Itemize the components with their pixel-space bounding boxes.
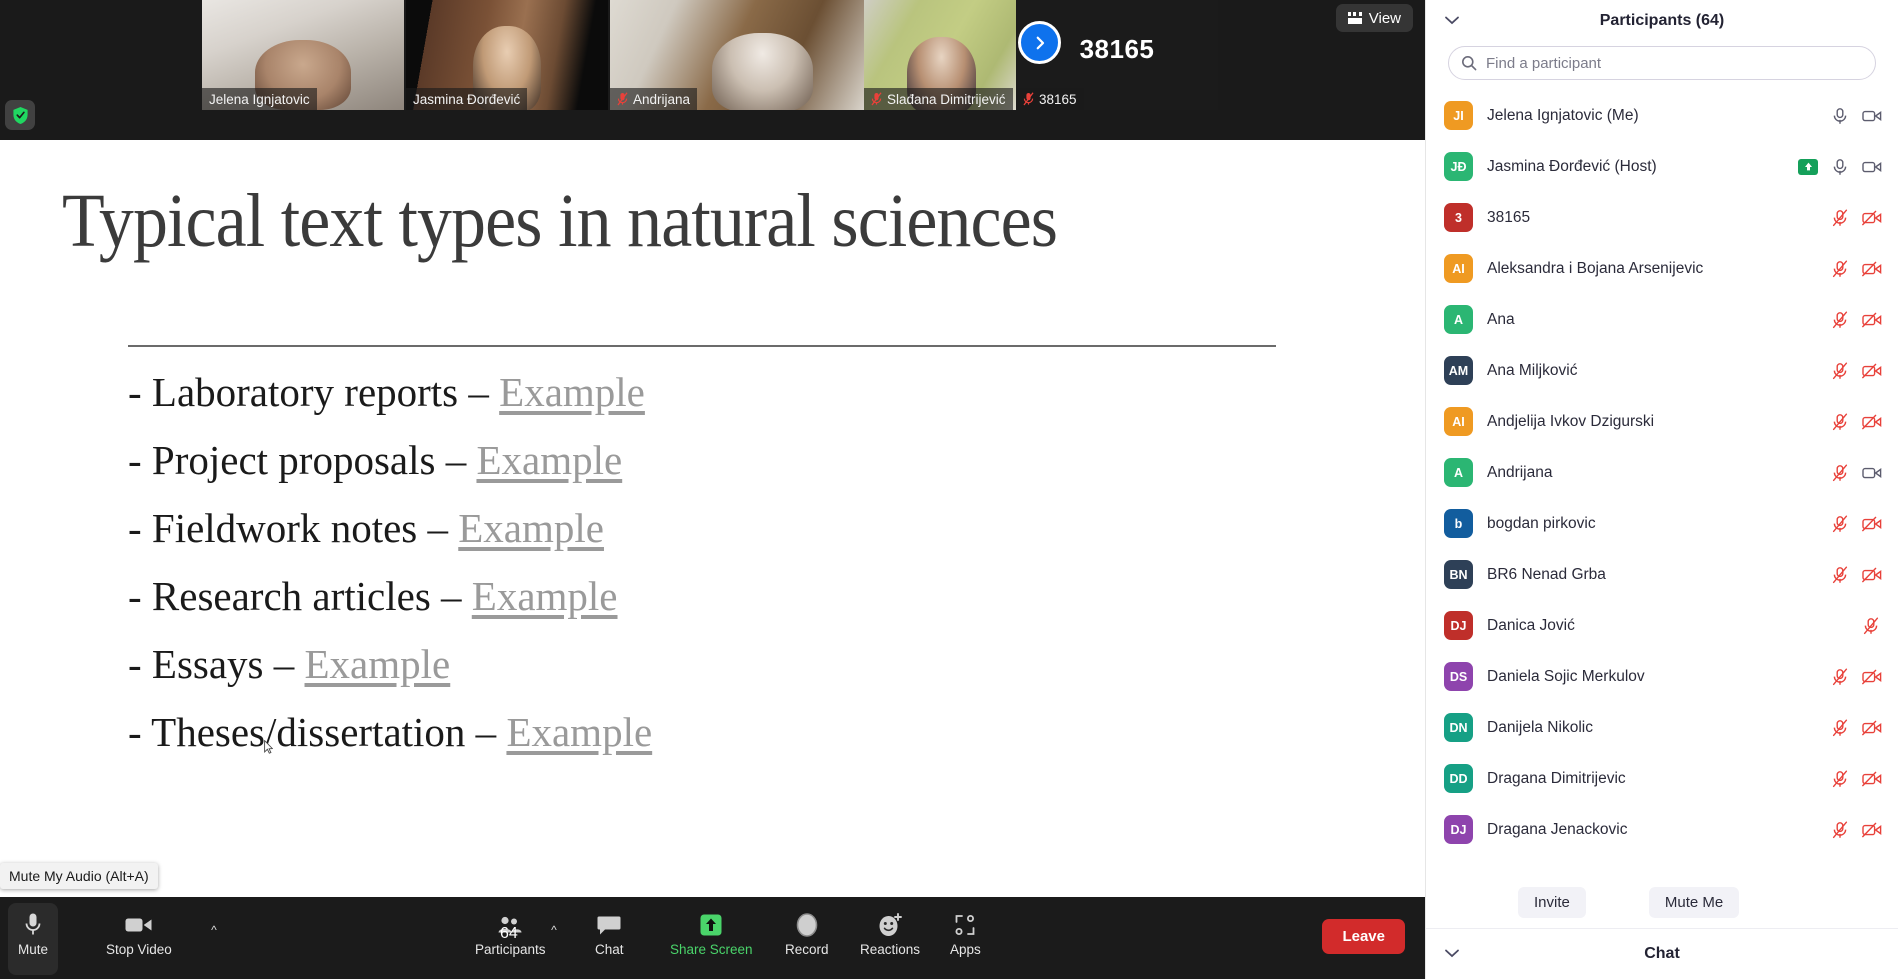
avatar: BN — [1444, 560, 1473, 589]
video-tile-name: Jasmina Đorđević — [413, 92, 520, 107]
participant-name: 38165 — [1487, 209, 1817, 227]
bullet-example-link[interactable]: Example — [305, 641, 451, 687]
participant-status-icons — [1831, 770, 1880, 788]
share-screen-button-label: Share Screen — [670, 942, 753, 957]
participant-row[interactable]: AIAndjelija Ivkov Dzigurski — [1444, 396, 1880, 447]
mic-off-icon[interactable] — [1862, 617, 1880, 635]
bullet-example-link[interactable]: Example — [476, 437, 622, 483]
avatar: AI — [1444, 254, 1473, 283]
video-tile[interactable]: Jelena Ignjatovic — [202, 0, 404, 110]
bullet-text: - Theses/dissertation – — [128, 709, 506, 755]
slide-bullet-item: - Essays – Example — [128, 644, 1308, 685]
participant-name: Daniela Sojic Merkulov — [1487, 668, 1817, 686]
participant-status-icons — [1831, 566, 1880, 584]
avatar: JĐ — [1444, 152, 1473, 181]
bullet-text: - Essays – — [128, 641, 305, 687]
avatar: DJ — [1444, 815, 1473, 844]
mic-off-icon — [617, 92, 628, 106]
participant-search-input[interactable] — [1486, 55, 1863, 72]
bullet-example-link[interactable]: Example — [472, 573, 618, 619]
camera-on-icon[interactable] — [1862, 107, 1880, 125]
participant-status-icons — [1831, 719, 1880, 737]
camera-off-icon[interactable] — [1862, 668, 1880, 686]
participant-name: Ana Miljković — [1487, 362, 1817, 380]
participant-name: Andrijana — [1487, 464, 1817, 482]
encryption-shield-icon[interactable] — [5, 100, 35, 130]
participant-status-icons — [1831, 209, 1880, 227]
bullet-example-link[interactable]: Example — [506, 709, 652, 755]
chat-collapse-chevron-icon[interactable] — [1444, 945, 1460, 963]
chat-panel-header[interactable]: Chat — [1426, 929, 1898, 979]
avatar: JI — [1444, 101, 1473, 130]
camera-on-icon[interactable] — [1862, 158, 1880, 176]
camera-off-icon[interactable] — [1862, 821, 1880, 839]
next-page-arrow-button[interactable] — [1018, 21, 1061, 64]
participant-status-icons — [1862, 617, 1880, 635]
avatar: DN — [1444, 713, 1473, 742]
slide-bullet-item: - Fieldwork notes – Example — [128, 508, 1308, 549]
participants-button-label: Participants — [475, 942, 546, 957]
participant-name: Jelena Ignjatovic (Me) — [1487, 107, 1817, 125]
chevron-right-icon — [1031, 34, 1049, 52]
camera-off-icon[interactable] — [1862, 515, 1880, 533]
camera-on-icon[interactable] — [1862, 464, 1880, 482]
mute-button[interactable]: Mute — [8, 903, 58, 975]
shared-slide: Typical text types in natural sciences -… — [0, 140, 1425, 897]
video-tile-namebar: Andrijana — [610, 88, 697, 110]
slide-bullet-item: - Theses/dissertation – Example — [128, 712, 1308, 753]
avatar: DJ — [1444, 611, 1473, 640]
participant-row[interactable]: AAndrijana — [1444, 447, 1880, 498]
slide-bullet-item: - Laboratory reports – Example — [128, 372, 1308, 413]
participant-row[interactable]: DJDanica Jović — [1444, 600, 1880, 651]
microphone-icon — [23, 910, 43, 940]
participant-status-icons — [1831, 260, 1880, 278]
mic-off-icon[interactable] — [1831, 209, 1849, 227]
apps-button-label: Apps — [950, 942, 981, 957]
avatar: A — [1444, 458, 1473, 487]
participants-panel-actions: Invite Mute Me — [1426, 877, 1898, 929]
video-tile-name: Andrijana — [633, 92, 690, 107]
leave-button[interactable]: Leave — [1322, 919, 1405, 954]
participant-search-box[interactable] — [1448, 46, 1876, 80]
participant-status-icons — [1831, 311, 1880, 329]
participant-name: Dragana Jenackovic — [1487, 821, 1817, 839]
side-panel: Participants (64) JIJelena Ignjatovic (M… — [1425, 0, 1898, 979]
record-button-label: Record — [785, 942, 829, 957]
record-circle-icon — [795, 910, 819, 940]
mic-off-icon[interactable] — [1831, 668, 1849, 686]
mic-off-icon — [617, 92, 628, 106]
bullet-text: - Research articles – — [128, 573, 472, 619]
mic-off-icon[interactable] — [1831, 464, 1849, 482]
participant-name: bogdan pirkovic — [1487, 515, 1817, 533]
slide-bullet-list: - Laboratory reports – Example- Project … — [128, 372, 1308, 780]
title-divider-rule — [128, 345, 1276, 347]
participants-panel-header: Participants (64) — [1426, 0, 1898, 42]
video-tile-namebar: Jelena Ignjatovic — [202, 88, 317, 110]
participants-count: 64 — [500, 925, 518, 943]
chat-button-label: Chat — [595, 942, 624, 957]
mute-button-label: Mute — [18, 942, 48, 957]
avatar: b — [1444, 509, 1473, 538]
camera-off-icon[interactable] — [1862, 566, 1880, 584]
zoom-meeting-window: 38165 38165 Slađana Dimitrijević Andrija… — [0, 0, 1898, 979]
participant-name: Danica Jović — [1487, 617, 1848, 635]
reactions-button[interactable]: Reactions — [850, 903, 930, 975]
bullet-text: - Fieldwork notes – — [128, 505, 458, 551]
participants-list[interactable]: JIJelena Ignjatovic (Me) JĐJasmina Đorđe… — [1426, 90, 1898, 877]
mic-off-icon[interactable] — [1831, 413, 1849, 431]
record-button[interactable]: Record — [775, 903, 839, 975]
apps-button[interactable]: Apps — [940, 903, 991, 975]
mute-me-button[interactable]: Mute Me — [1649, 887, 1739, 918]
participants-options-caret-icon[interactable]: ^ — [546, 923, 562, 937]
video-tile-name: 38165 — [1039, 92, 1077, 107]
grid-view-icon — [1348, 12, 1362, 24]
mic-off-icon[interactable] — [1831, 719, 1849, 737]
camera-off-icon[interactable] — [1862, 413, 1880, 431]
participant-row[interactable]: AAna — [1444, 294, 1880, 345]
camera-icon — [125, 910, 153, 940]
camera-off-icon[interactable] — [1862, 311, 1880, 329]
video-tile[interactable]: Slađana Dimitrijević — [864, 0, 1016, 110]
host-share-badge-icon — [1798, 159, 1818, 175]
video-tile-namebar: Slađana Dimitrijević — [864, 88, 1013, 110]
participant-status-icons — [1831, 413, 1880, 431]
mouse-cursor-icon — [264, 740, 273, 754]
avatar: AM — [1444, 356, 1473, 385]
participant-row[interactable]: DDDragana Dimitrijevic — [1444, 753, 1880, 804]
camera-off-icon[interactable] — [1862, 362, 1880, 380]
bullet-text: - Project proposals – — [128, 437, 476, 483]
search-icon — [1461, 55, 1477, 71]
share-arrow-icon — [699, 910, 723, 940]
participant-status-icons — [1831, 668, 1880, 686]
mic-off-icon[interactable] — [1831, 311, 1849, 329]
participant-row[interactable]: JĐJasmina Đorđević (Host) — [1444, 141, 1880, 192]
mic-off-icon[interactable] — [1831, 362, 1849, 380]
participant-row[interactable]: DNDanijela Nikolic — [1444, 702, 1880, 753]
apps-bracket-icon — [953, 910, 977, 940]
participant-name: Jasmina Đorđević (Host) — [1487, 158, 1784, 176]
participant-row[interactable]: JIJelena Ignjatovic (Me) — [1444, 90, 1880, 141]
participant-status-icons — [1831, 821, 1880, 839]
camera-off-icon[interactable] — [1862, 209, 1880, 227]
camera-off-icon[interactable] — [1862, 770, 1880, 788]
bullet-text: - Laboratory reports – — [128, 369, 499, 415]
participant-status-icons — [1798, 158, 1880, 176]
mic-off-icon — [1023, 92, 1034, 106]
view-layout-button[interactable]: View — [1336, 4, 1413, 32]
participant-search-wrapper — [1426, 42, 1898, 90]
chat-panel-title: Chat — [1644, 945, 1680, 963]
video-tile-name: Slađana Dimitrijević — [887, 92, 1006, 107]
reactions-button-label: Reactions — [860, 942, 920, 957]
avatar: DS — [1444, 662, 1473, 691]
mic-off-icon[interactable] — [1831, 770, 1849, 788]
avatar: A — [1444, 305, 1473, 334]
participant-name: Danijela Nikolic — [1487, 719, 1817, 737]
video-tile-name: Jelena Ignjatovic — [209, 92, 310, 107]
participant-status-icons — [1831, 464, 1880, 482]
mute-tooltip: Mute My Audio (Alt+A) — [0, 863, 158, 889]
video-tile[interactable]: Jasmina Đorđević — [406, 0, 608, 110]
stop-video-button-label: Stop Video — [106, 942, 172, 957]
video-thumbnail-strip: 38165 38165 Slađana Dimitrijević Andrija… — [0, 0, 1425, 140]
participant-row[interactable]: AIAleksandra i Bojana Arsenijevic — [1444, 243, 1880, 294]
participant-row[interactable]: DSDaniela Sojic Merkulov — [1444, 651, 1880, 702]
participant-row[interactable]: BNBR6 Nenad Grba — [1444, 549, 1880, 600]
video-options-caret-icon[interactable]: ^ — [206, 923, 222, 937]
participant-row[interactable]: DJDragana Jenackovic — [1444, 804, 1880, 855]
mic-off-icon[interactable] — [1831, 515, 1849, 533]
mic-off-icon[interactable] — [1831, 821, 1849, 839]
participant-name: Aleksandra i Bojana Arsenijevic — [1487, 260, 1817, 278]
participant-name: Dragana Dimitrijevic — [1487, 770, 1817, 788]
video-tile-namebar: 38165 — [1016, 88, 1084, 110]
slide-title: Typical text types in natural sciences — [62, 182, 1249, 262]
mic-off-icon — [1023, 92, 1034, 106]
mic-off-icon[interactable] — [1831, 260, 1849, 278]
participants-collapse-chevron-icon[interactable] — [1444, 12, 1460, 30]
stop-video-button[interactable]: Stop Video — [96, 903, 182, 975]
smiley-plus-icon — [877, 910, 903, 940]
invite-button[interactable]: Invite — [1518, 887, 1586, 918]
participant-row[interactable]: 338165 — [1444, 192, 1880, 243]
view-button-label: View — [1369, 10, 1401, 27]
participant-row[interactable]: AMAna Miljković — [1444, 345, 1880, 396]
video-tile[interactable]: Andrijana — [610, 0, 864, 110]
participant-name: BR6 Nenad Grba — [1487, 566, 1817, 584]
slide-bullet-item: - Project proposals – Example — [128, 440, 1308, 481]
participants-panel-title: Participants (64) — [1600, 12, 1724, 30]
participant-name: Ana — [1487, 311, 1817, 329]
chat-button[interactable]: Chat — [585, 903, 634, 975]
camera-off-icon[interactable] — [1862, 260, 1880, 278]
share-screen-button[interactable]: Share Screen — [660, 903, 763, 975]
avatar: DD — [1444, 764, 1473, 793]
participant-status-icons — [1831, 362, 1880, 380]
mic-on-icon[interactable] — [1831, 107, 1849, 125]
camera-off-icon[interactable] — [1862, 719, 1880, 737]
slide-bullet-item: - Research articles – Example — [128, 576, 1308, 617]
mic-off-icon[interactable] — [1831, 566, 1849, 584]
video-tile-namebar: Jasmina Đorđević — [406, 88, 527, 110]
participant-status-icons — [1831, 515, 1880, 533]
mic-off-icon — [871, 92, 882, 106]
meeting-toolbar: Mute Stop Video ^ — [0, 897, 1425, 979]
bullet-example-link[interactable]: Example — [458, 505, 604, 551]
mic-off-icon — [871, 92, 882, 106]
speech-bubble-icon — [597, 910, 621, 940]
bullet-example-link[interactable]: Example — [499, 369, 645, 415]
avatar: AI — [1444, 407, 1473, 436]
avatar: 3 — [1444, 203, 1473, 232]
green-shield-check-icon — [12, 106, 29, 125]
participant-name: Andjelija Ivkov Dzigurski — [1487, 413, 1817, 431]
participant-status-icons — [1831, 107, 1880, 125]
meeting-stage: 38165 38165 Slađana Dimitrijević Andrija… — [0, 0, 1425, 979]
participant-row[interactable]: bbogdan pirkovic — [1444, 498, 1880, 549]
mic-on-icon[interactable] — [1831, 158, 1849, 176]
